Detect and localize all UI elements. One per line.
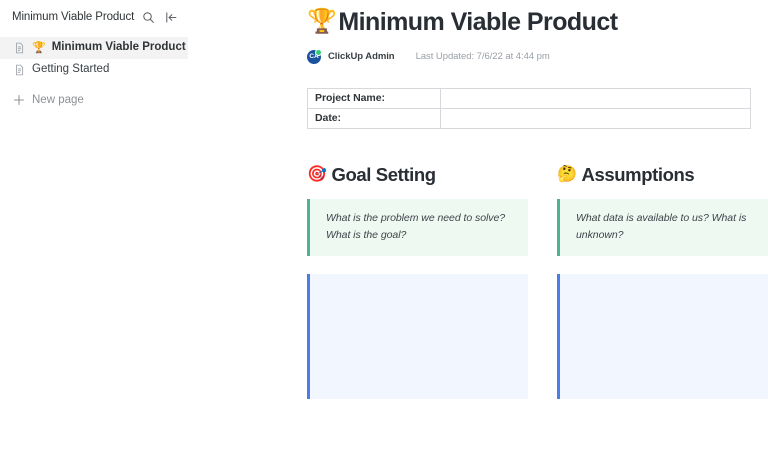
- page-title: 🏆 Minimum Viable Product: [307, 8, 764, 37]
- search-icon[interactable]: [141, 10, 155, 24]
- table-row: Project Name:: [308, 88, 751, 108]
- thinking-face-icon: 🤔: [557, 167, 577, 183]
- document-content: 🏆 Minimum Viable Product CA ClickUp Admi…: [189, 0, 768, 451]
- table-row: Date:: [308, 108, 751, 128]
- target-icon: 🎯: [307, 167, 327, 183]
- section-heading-text: Assumptions: [582, 165, 695, 185]
- prompt-text: What is the problem we need to solve? Wh…: [326, 210, 514, 245]
- sidebar-header-actions: [141, 10, 178, 24]
- prompt-callout: What is the problem we need to solve? Wh…: [307, 199, 528, 256]
- sidebar-title: Minimum Viable Product: [12, 11, 141, 23]
- table-cell-key: Project Name:: [308, 88, 441, 108]
- document-icon: [14, 42, 26, 55]
- new-page-label: New page: [32, 94, 84, 106]
- section-goal-setting: 🎯 Goal Setting What is the problem we ne…: [307, 165, 528, 399]
- trophy-icon: 🏆: [307, 10, 336, 34]
- table-cell-value[interactable]: [441, 108, 751, 128]
- section-assumptions: 🤔 Assumptions What data is available to …: [557, 165, 768, 399]
- avatar[interactable]: CA: [307, 50, 321, 64]
- project-info-table: Project Name: Date:: [307, 88, 751, 129]
- table-cell-value[interactable]: [441, 88, 751, 108]
- new-page-button[interactable]: New page: [0, 89, 188, 111]
- sidebar-item-label: Getting Started: [32, 64, 109, 76]
- section-heading-text: Goal Setting: [332, 165, 436, 185]
- document-icon: [14, 64, 26, 77]
- sidebar-header: Minimum Viable Product: [0, 0, 188, 34]
- section-heading: 🎯 Goal Setting: [307, 165, 528, 185]
- page-title-text: Minimum Viable Product: [338, 8, 617, 37]
- answer-callout[interactable]: [557, 274, 768, 399]
- prompt-callout: What data is available to us? What is un…: [557, 199, 768, 256]
- collapse-sidebar-icon[interactable]: [164, 10, 178, 24]
- sidebar-item-getting-started[interactable]: Getting Started: [0, 59, 188, 81]
- prompt-text: What data is available to us? What is un…: [576, 210, 764, 245]
- last-updated-text: Last Updated: 7/6/22 at 4:44 pm: [416, 51, 550, 62]
- sections-container: 🎯 Goal Setting What is the problem we ne…: [307, 165, 764, 399]
- sidebar-page-list: 🏆 Minimum Viable Product Getting Started: [0, 37, 188, 111]
- sidebar-item-label: Minimum Viable Product: [52, 42, 186, 54]
- sidebar-item-minimum-viable-product[interactable]: 🏆 Minimum Viable Product: [0, 37, 188, 59]
- app-window: Minimum Viable Product: [0, 0, 768, 451]
- sidebar: Minimum Viable Product: [0, 0, 189, 451]
- table-cell-key: Date:: [308, 108, 441, 128]
- plus-icon: [13, 94, 25, 106]
- document-meta: CA ClickUp Admin Last Updated: 7/6/22 at…: [307, 49, 764, 65]
- section-heading: 🤔 Assumptions: [557, 165, 768, 185]
- answer-callout[interactable]: [307, 274, 528, 399]
- author-name: ClickUp Admin: [328, 51, 395, 62]
- sidebar-item-emoji: 🏆: [32, 43, 46, 54]
